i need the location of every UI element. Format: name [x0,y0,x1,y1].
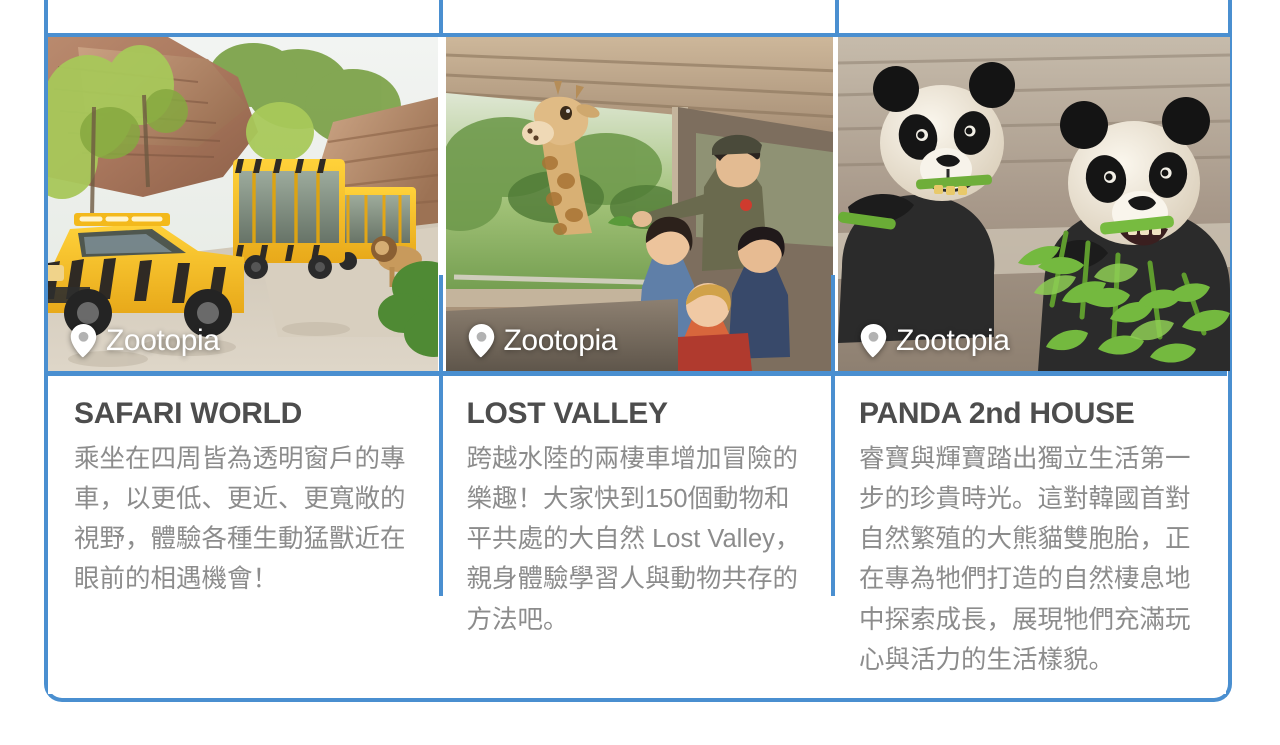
attraction-card-safari-world[interactable]: Zootopia SAFARI WORLD 乘坐在四周皆為透明窗戶的專車，以更低… [48,37,441,694]
card-body: PANDA 2nd HOUSE 睿寶與輝寶踏出獨立生活第一步的珍貴時光。這對韓國… [833,371,1226,680]
location-badge: Zootopia [860,324,1010,358]
previous-row-clipped [48,0,1228,37]
location-label: Zootopia [504,326,618,356]
previous-row-divider-2 [835,0,839,37]
card-description: 跨越水陸的兩棲車增加冒險的樂趣！大家快到150個動物和平共處的大自然 Lost … [467,439,808,640]
card-body: LOST VALLEY 跨越水陸的兩棲車增加冒險的樂趣！大家快到150個動物和平… [441,371,834,640]
card-photo-lost-valley: Zootopia [446,37,839,371]
attraction-card-lost-valley[interactable]: Zootopia LOST VALLEY 跨越水陸的兩棲車增加冒險的樂趣！大家快… [441,37,834,694]
card-title: LOST VALLEY [467,398,808,430]
card-description: 睿寶與輝寶踏出獨立生活第一步的珍貴時光。這對韓國首對自然繁殖的大熊貓雙胞胎，正在… [859,439,1200,681]
photo-separator [48,371,441,376]
previous-row-divider-1 [439,0,443,37]
map-pin-icon [860,324,887,358]
map-pin-icon [70,324,97,358]
card-body: SAFARI WORLD 乘坐在四周皆為透明窗戶的專車，以更低、更近、更寬敞的視… [48,371,441,600]
attractions-panel: Zootopia SAFARI WORLD 乘坐在四周皆為透明窗戶的專車，以更低… [44,0,1232,702]
card-photo-panda-2nd-house: Zootopia [838,37,1230,371]
location-badge: Zootopia [468,324,618,358]
card-photo-safari-world: Zootopia [48,37,438,371]
photo-separator [441,371,834,376]
card-title: PANDA 2nd HOUSE [859,398,1200,430]
location-label: Zootopia [896,326,1010,356]
page-root: Zootopia SAFARI WORLD 乘坐在四周皆為透明窗戶的專車，以更低… [0,0,1280,745]
location-badge: Zootopia [70,324,220,358]
photo-separator [833,371,1227,376]
attraction-card-panda-2nd-house[interactable]: Zootopia PANDA 2nd HOUSE 睿寶與輝寶踏出獨立生活第一步的… [833,37,1226,694]
card-title: SAFARI WORLD [74,398,415,430]
card-description: 乘坐在四周皆為透明窗戶的專車，以更低、更近、更寬敞的視野，體驗各種生動猛獸近在眼… [74,439,415,600]
attraction-card-grid: Zootopia SAFARI WORLD 乘坐在四周皆為透明窗戶的專車，以更低… [48,37,1228,694]
location-label: Zootopia [106,326,220,356]
map-pin-icon [468,324,495,358]
